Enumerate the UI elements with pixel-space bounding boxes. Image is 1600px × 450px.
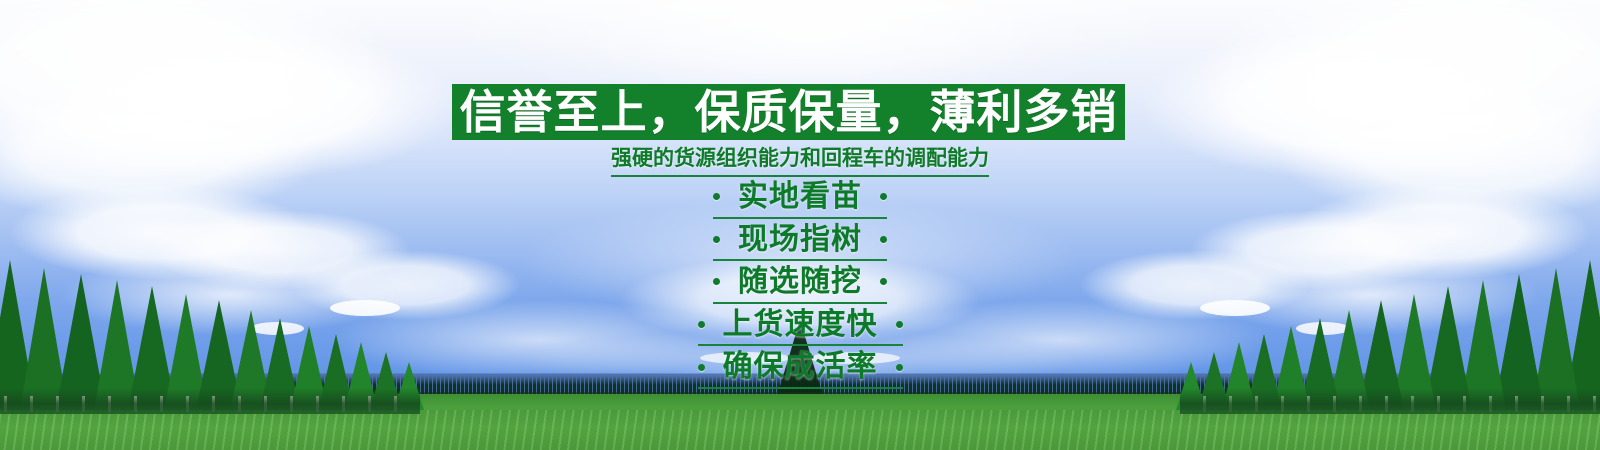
feature-label: 现场指树 bbox=[738, 223, 862, 257]
feature-item: 现场指树 bbox=[713, 223, 887, 262]
feature-item: 上货速度快 bbox=[698, 308, 903, 347]
bullet-dot-icon bbox=[880, 236, 887, 243]
bullet-dot-icon bbox=[698, 364, 705, 371]
promo-banner: 信誉至上，保质保量，薄利多销 强硬的货源组织能力和回程车的调配能力 实地看苗 现… bbox=[0, 0, 1600, 450]
subtitle-text: 强硬的货源组织能力和回程车的调配能力 bbox=[611, 146, 989, 177]
bullet-dot-icon bbox=[896, 321, 903, 328]
feature-list: 实地看苗 现场指树 随选随挖 上货速度快 确保成活率 bbox=[0, 180, 1600, 393]
bullet-dot-icon bbox=[880, 278, 887, 285]
feature-item: 确保成活率 bbox=[698, 350, 903, 389]
bullet-dot-icon bbox=[713, 278, 720, 285]
bullet-dot-icon bbox=[698, 321, 705, 328]
field-furrows bbox=[0, 410, 1600, 450]
bullet-dot-icon bbox=[713, 236, 720, 243]
subtitle-row: 强硬的货源组织能力和回程车的调配能力 bbox=[0, 146, 1600, 177]
feature-item: 实地看苗 bbox=[713, 180, 887, 219]
headline-text: 信誉至上，保质保量，薄利多销 bbox=[460, 89, 1118, 135]
bullet-dot-icon bbox=[896, 364, 903, 371]
feature-label: 实地看苗 bbox=[738, 180, 862, 214]
feature-label: 确保成活率 bbox=[723, 350, 878, 384]
bullet-dot-icon bbox=[880, 193, 887, 200]
feature-item: 随选随挖 bbox=[713, 265, 887, 304]
bullet-dot-icon bbox=[713, 193, 720, 200]
headline-bar: 信誉至上，保质保量，薄利多销 bbox=[452, 84, 1125, 140]
feature-label: 上货速度快 bbox=[723, 308, 878, 342]
feature-label: 随选随挖 bbox=[738, 265, 862, 299]
